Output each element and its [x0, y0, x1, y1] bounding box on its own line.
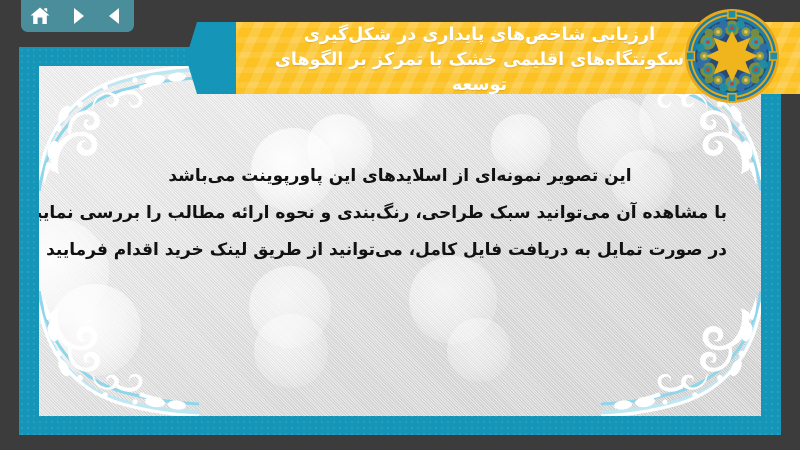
home-button[interactable]	[26, 3, 54, 29]
bokeh-circle	[254, 314, 328, 388]
slide-frame: این تصویر نمونه‌ای از اسلایدهای این پاور…	[19, 47, 781, 435]
triangle-right-icon	[68, 6, 88, 26]
triangle-left-icon	[105, 6, 125, 26]
bokeh-circle	[447, 318, 511, 382]
arabesque-corner-ornament-icon	[601, 291, 761, 416]
bokeh-circle	[49, 284, 141, 376]
arabesque-corner-ornament-icon	[39, 291, 199, 416]
body-line: با مشاهده آن می‌توانید سبک طراحی، رنگ‌بن…	[73, 195, 727, 232]
home-icon	[29, 6, 51, 26]
bokeh-circle	[249, 266, 331, 348]
body-line: این تصویر نمونه‌ای از اسلایدهای این پاور…	[73, 158, 727, 195]
persian-medallion-ornament-icon	[684, 8, 780, 104]
slide-canvas: این تصویر نمونه‌ای از اسلایدهای این پاور…	[0, 0, 800, 450]
body-line: در صورت تمایل به دریافت فایل کامل، می‌تو…	[73, 232, 727, 269]
slide-body-text: این تصویر نمونه‌ای از اسلایدهای این پاور…	[39, 158, 761, 269]
next-slide-button[interactable]	[64, 3, 92, 29]
slide-navigation-bar	[21, 0, 134, 32]
previous-slide-button[interactable]	[101, 3, 129, 29]
slide-content-area: این تصویر نمونه‌ای از اسلایدهای این پاور…	[39, 66, 761, 416]
bokeh-circle	[409, 256, 497, 344]
